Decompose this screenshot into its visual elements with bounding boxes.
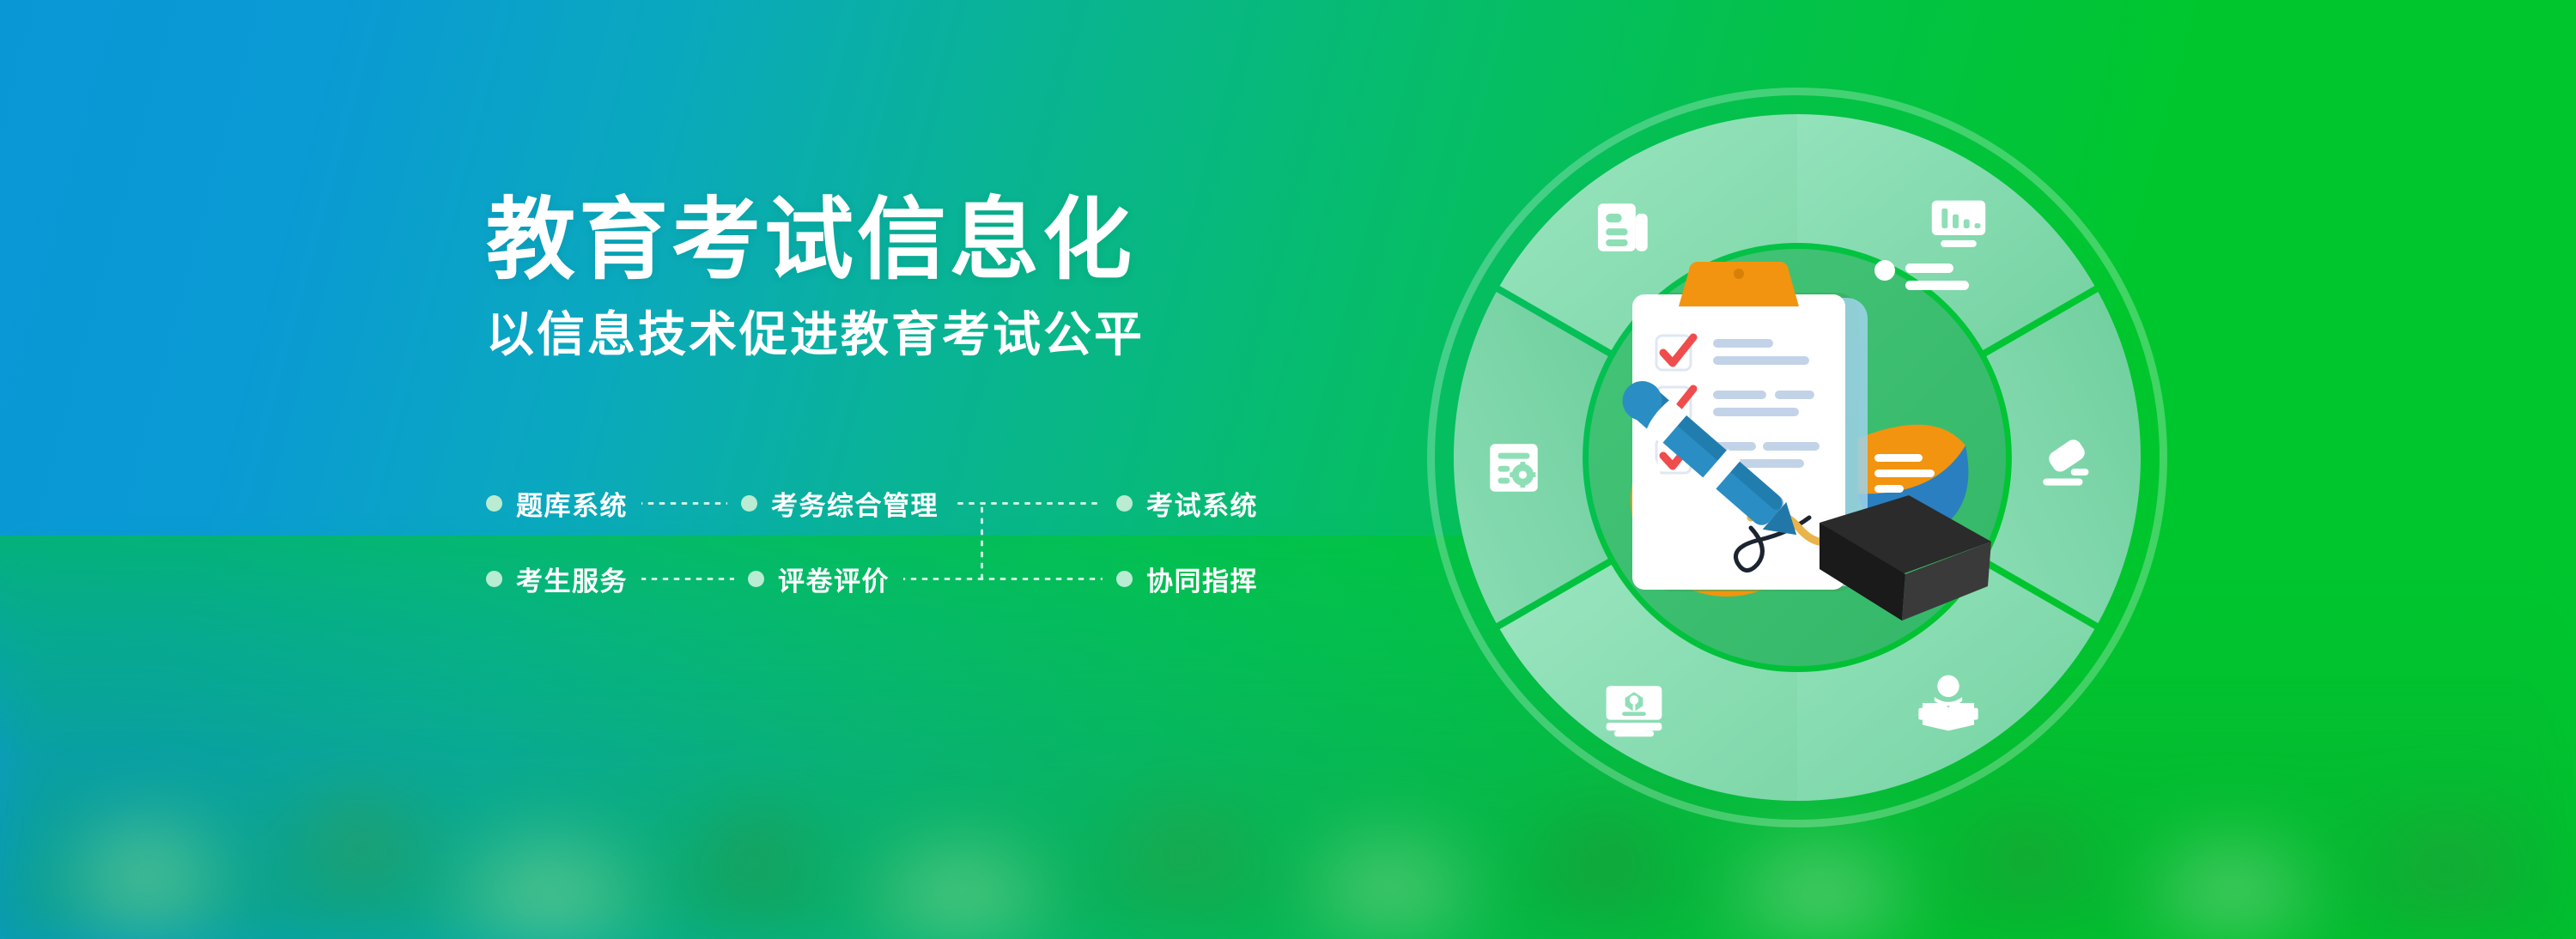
hero-banner: 教育考试信息化 以信息技术促进教育考试公平 题库系统 考务综合管理 考试系统 bbox=[0, 0, 2576, 939]
bullet-dot-icon bbox=[748, 571, 764, 587]
feature-item-pingjuan[interactable]: 评卷评价 bbox=[748, 560, 890, 598]
page-subtitle: 以信息技术促进教育考试公平 bbox=[486, 306, 1345, 363]
bullet-dot-icon bbox=[486, 495, 502, 512]
feature-item-tiku[interactable]: 题库系统 bbox=[486, 484, 628, 523]
feature-item-kaowu[interactable]: 考务综合管理 bbox=[741, 484, 939, 523]
monitor-pin-icon bbox=[1595, 671, 1673, 748]
feature-item-kaoshi[interactable]: 考试系统 bbox=[1116, 484, 1258, 523]
dotted-connector bbox=[641, 578, 734, 580]
feature-list: 题库系统 考务综合管理 考试系统 考生服务 评卷评价 bbox=[486, 483, 1207, 598]
banner-copy: 教育考试信息化 以信息技术促进教育考试公平 bbox=[486, 191, 1345, 364]
feature-label: 协同指挥 bbox=[1146, 560, 1258, 598]
center-illustration bbox=[1583, 243, 2012, 672]
feature-label: 题库系统 bbox=[516, 484, 628, 523]
bullet-dot-icon bbox=[1116, 571, 1133, 587]
eraser-icon bbox=[2028, 424, 2105, 501]
background-photo-overlay bbox=[0, 536, 2576, 939]
document-gear-icon bbox=[1475, 429, 1552, 506]
bullet-dot-icon bbox=[741, 495, 757, 512]
dotted-connector bbox=[952, 502, 1103, 505]
feature-label: 考务综合管理 bbox=[771, 484, 939, 523]
vertical-dotted-connector bbox=[981, 506, 983, 580]
feature-label: 评卷评价 bbox=[778, 560, 890, 598]
feature-item-xietong[interactable]: 协同指挥 bbox=[1116, 560, 1258, 598]
feature-label: 考生服务 bbox=[516, 560, 628, 598]
dotted-connector bbox=[641, 502, 727, 505]
bullet-dot-icon bbox=[486, 571, 502, 587]
dotted-connector bbox=[903, 578, 1103, 580]
feature-label: 考试系统 bbox=[1146, 484, 1258, 523]
feature-wheel-diagram bbox=[1427, 88, 2167, 827]
page-title: 教育考试信息化 bbox=[486, 191, 1345, 290]
bullet-dot-icon bbox=[1116, 495, 1133, 512]
feature-item-kaosheng[interactable]: 考生服务 bbox=[486, 560, 628, 598]
person-book-icon bbox=[1910, 664, 1987, 742]
feature-row-1: 题库系统 考务综合管理 考试系统 bbox=[486, 483, 1207, 523]
status-dot-icon bbox=[1874, 260, 1895, 281]
feature-row-2: 考生服务 评卷评价 协同指挥 bbox=[486, 559, 1207, 598]
